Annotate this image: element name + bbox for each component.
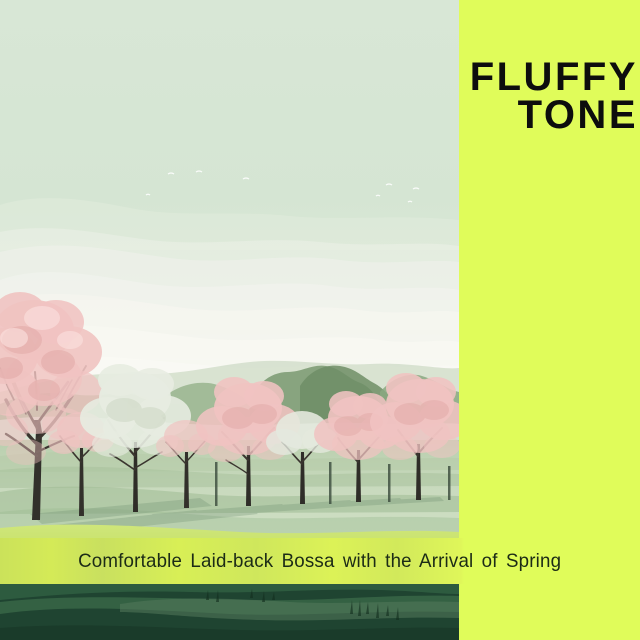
foreground-hill-illustration: [0, 584, 459, 640]
album-title: FLUFFY TONE: [440, 58, 638, 134]
album-cover: FLUFFY TONE Comfortable Laid-back Bossa …: [0, 0, 640, 640]
foreground-strip: [0, 584, 459, 640]
album-title-line-1: FLUFFY: [440, 58, 638, 96]
subtitle-band: Comfortable Laid-back Bossa with the Arr…: [0, 538, 640, 584]
album-subtitle: Comfortable Laid-back Bossa with the Arr…: [78, 550, 561, 573]
album-title-line-2: TONE: [440, 96, 638, 134]
